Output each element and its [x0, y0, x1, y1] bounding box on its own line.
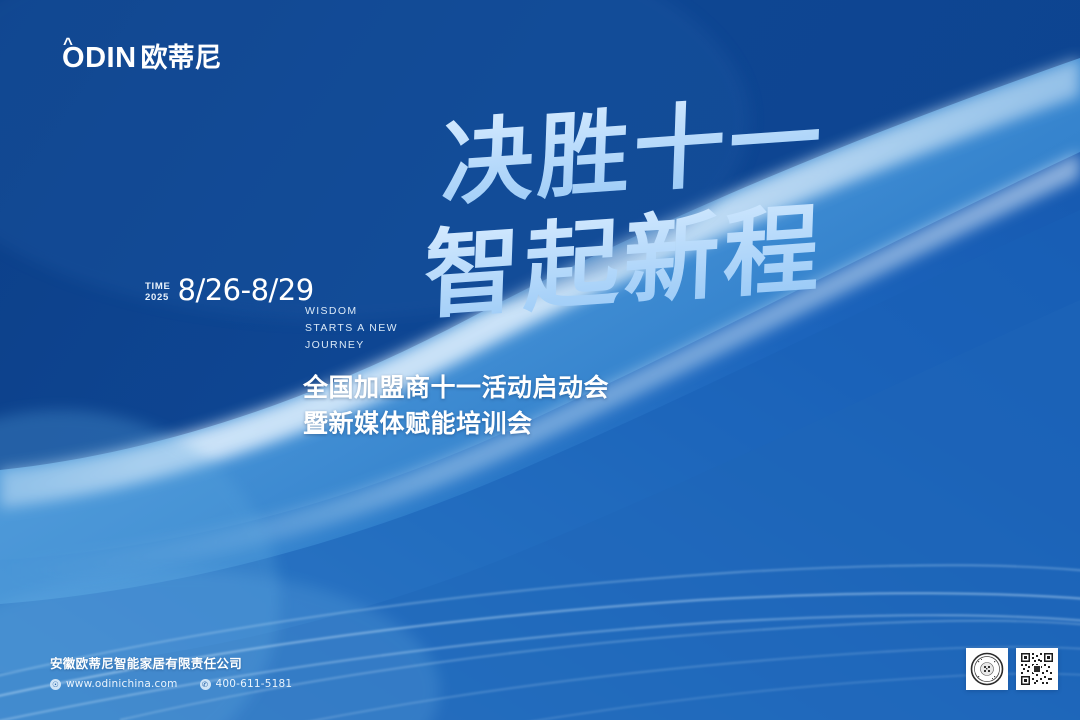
subtitle-line-2: 暨新媒体赋能培训会 [303, 406, 609, 442]
company-name: 安徽欧蒂尼智能家居有限责任公司 [50, 656, 314, 671]
phone-icon: ✆ [200, 679, 211, 690]
wechat-qr[interactable] [1016, 648, 1058, 690]
date-range: 8/26-8/29 [178, 276, 314, 305]
phone-item[interactable]: ✆ 400-611-5181 [200, 678, 293, 690]
footer-block: 安徽欧蒂尼智能家居有限责任公司 ☉ www.odinichina.com ✆ 4… [50, 656, 314, 690]
date-label: TIME 2025 [145, 281, 171, 303]
official-seal-qr[interactable] [966, 648, 1008, 690]
contact-row: ☉ www.odinichina.com ✆ 400-611-5181 [50, 678, 314, 690]
event-subtitle: 全国加盟商十一活动启动会 暨新媒体赋能培训会 [303, 370, 609, 443]
event-date-block: TIME 2025 8/26-8/29 [145, 276, 314, 305]
date-label-year: 2025 [145, 292, 171, 303]
english-tagline: WISDOM STARTS A NEW JOURNEY [305, 303, 398, 354]
logo-mark-text: DIN [85, 42, 136, 74]
globe-icon: ☉ [50, 679, 61, 690]
tagline-line-3: JOURNEY [305, 337, 398, 354]
qr-code-group [966, 648, 1058, 690]
subtitle-line-1: 全国加盟商十一活动启动会 [303, 370, 609, 406]
logo-wordmark: ^ ODIN [62, 44, 137, 73]
website-text: www.odinichina.com [66, 678, 178, 690]
phone-text: 400-611-5181 [216, 678, 293, 690]
poster-canvas: ^ ODIN 欧蒂尼 决胜十一 智起新程 TIME 2025 8/26-8/29… [0, 0, 1080, 720]
tagline-line-2: STARTS A NEW [305, 320, 398, 337]
tagline-line-1: WISDOM [305, 303, 398, 320]
brand-logo: ^ ODIN 欧蒂尼 [62, 44, 222, 73]
logo-diacritic-icon: ^ [63, 35, 73, 52]
website-item[interactable]: ☉ www.odinichina.com [50, 678, 178, 690]
logo-chinese-name: 欧蒂尼 [141, 45, 222, 72]
headline-calligraphy: 决胜十一 智起新程 [440, 108, 910, 338]
date-label-time: TIME [145, 281, 171, 292]
